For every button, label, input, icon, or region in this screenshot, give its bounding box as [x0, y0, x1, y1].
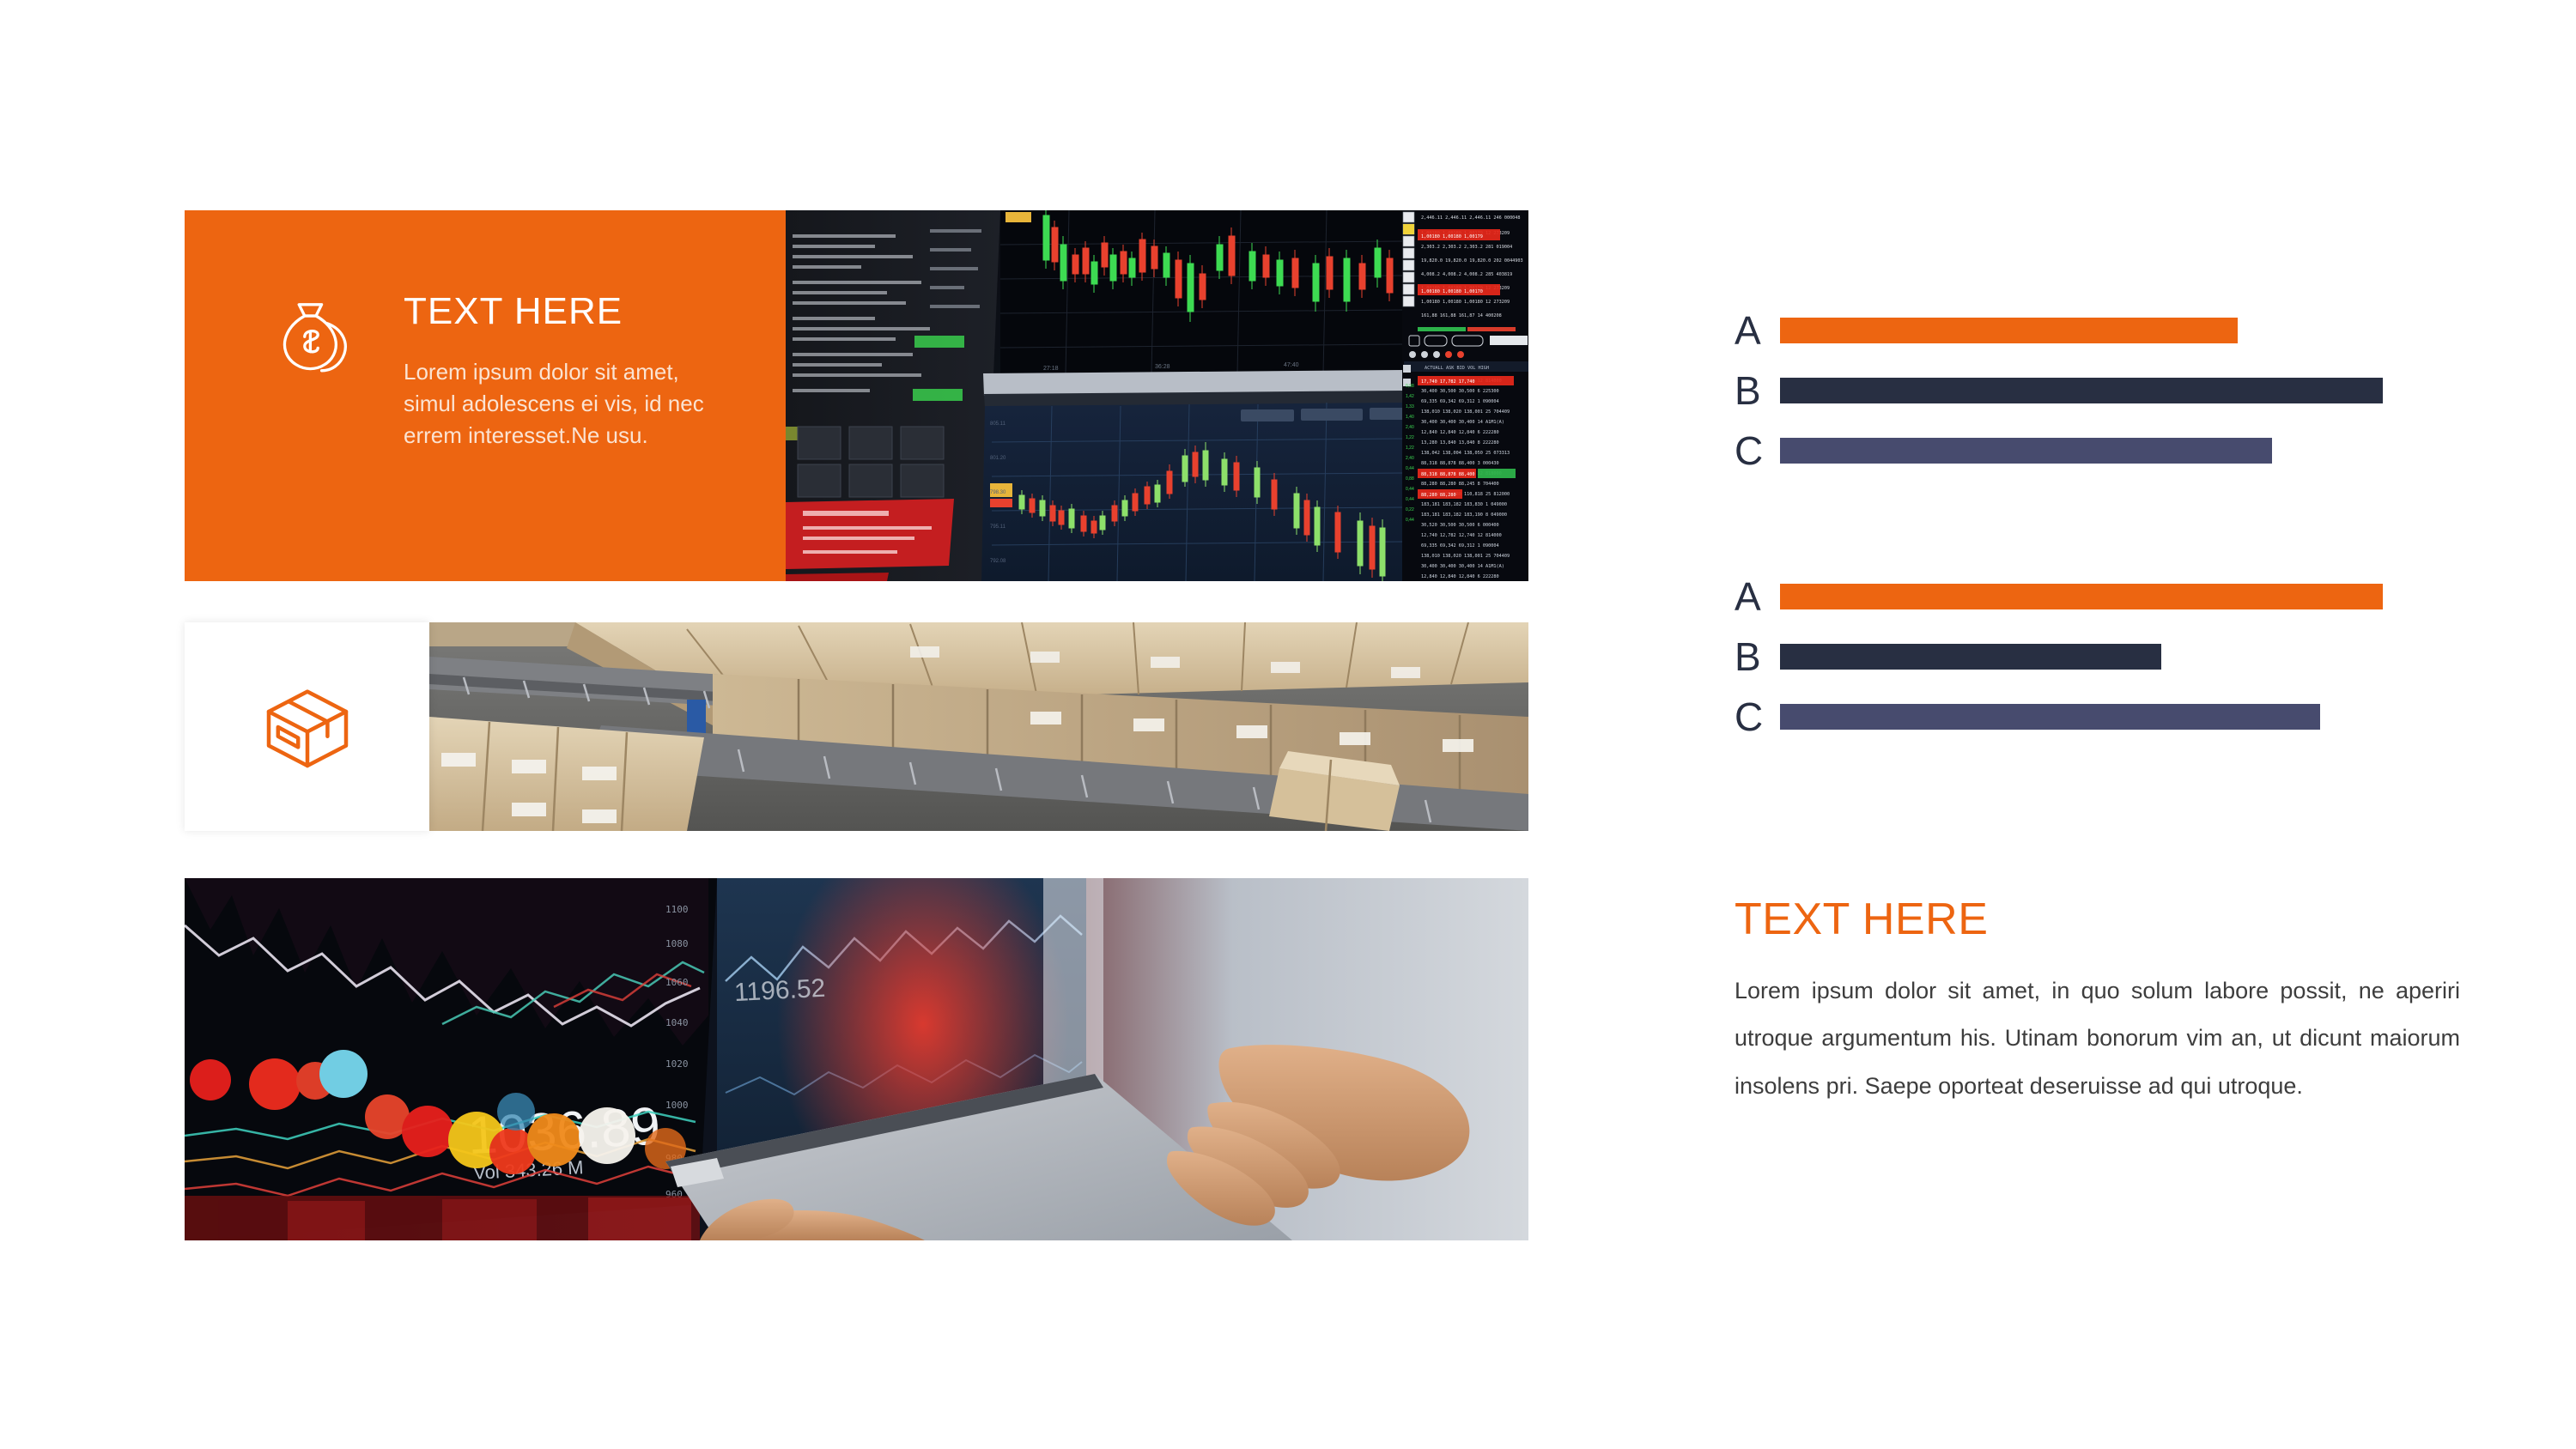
svg-text:1020: 1020 [665, 1058, 689, 1070]
svg-text:30,520 30,500 30,500 6 0: 30,520 30,500 30,500 6 000400 [1421, 523, 1499, 528]
bar-chart-2: A B C [1735, 567, 2473, 747]
svg-text:30,400 30,400 30,400 14 A: 30,400 30,400 30,400 14 A1M1(A) [1421, 420, 1504, 425]
money-bag-icon [269, 288, 363, 382]
svg-text:1080: 1080 [665, 938, 689, 949]
package-row [185, 622, 1528, 831]
bar-label-b: B [1735, 637, 1780, 676]
svg-text:138,010 138,020 138,001 25 7: 138,010 138,020 138,001 25 704409 [1421, 554, 1510, 559]
bar-fill-c [1780, 704, 2320, 730]
feature-card[interactable]: TEXT HERE Lorem ipsum dolor sit amet, si… [185, 210, 786, 581]
svg-text:1040: 1040 [665, 1017, 689, 1028]
svg-text:798.30: 798.30 [990, 490, 1006, 495]
package-card[interactable] [185, 622, 429, 831]
svg-text:2,446.11 2,446.11 2,446.11: 2,446.11 2,446.11 2,446.11 246 000048 [1421, 215, 1521, 221]
svg-text:1000: 1000 [665, 1100, 689, 1111]
svg-text:1196.52: 1196.52 [733, 974, 826, 1008]
svg-text:183,181 183,182 183,190 8: 183,181 183,182 183,190 8 049000 [1421, 512, 1507, 518]
svg-text:69,335 69,342 69,312 1 0: 69,335 69,342 69,312 1 090004 [1421, 399, 1499, 404]
svg-text:12,840 12,840 12,840 6 2: 12,840 12,840 12,840 6 222280 [1421, 574, 1499, 579]
svg-text:0,44: 0,44 [1406, 466, 1414, 471]
text-block-title: TEXT HERE [1735, 897, 2460, 942]
svg-text:801.20: 801.20 [990, 456, 1006, 461]
svg-text:2,303.2 2,303.2 2,303.2: 2,303.2 2,303.2 2,303.2 281 019004 [1421, 245, 1512, 250]
bar-row-b: B [1735, 361, 2473, 421]
trading-screens-image: 27:1836:28 47:40 [786, 210, 1528, 581]
svg-text:1,00180 1,00180 1,00180: 1,00180 1,00180 1,00180 12 273209 [1421, 300, 1510, 305]
bar-track-c [1780, 438, 2473, 464]
svg-text:0,44: 0,44 [1406, 487, 1414, 492]
svg-text:30,400 30,500 30,500 6 2: 30,400 30,500 30,500 6 225300 [1421, 389, 1499, 394]
svg-text:138,010 138,020 138,001 25 7: 138,010 138,020 138,001 25 704409 [1421, 409, 1510, 415]
package-box-icon [261, 681, 354, 773]
svg-text:0,22: 0,22 [1406, 507, 1414, 512]
svg-text:88,280 88,280: 88,280 88,280 [1421, 493, 1456, 498]
bar-label-c: C [1735, 431, 1780, 470]
slide-canvas: TEXT HERE Lorem ipsum dolor sit amet, si… [0, 0, 2576, 1449]
svg-text:1,00180 1,00180 1,00170: 1,00180 1,00180 1,00170 [1421, 289, 1483, 294]
feature-card-body: Lorem ipsum dolor sit amet, simul adoles… [404, 356, 721, 452]
bar-fill-b [1780, 378, 2383, 403]
svg-text:0,44: 0,44 [1406, 497, 1414, 502]
svg-text:88,318 88,878 88,400: 88,318 88,878 88,400 [1421, 472, 1474, 477]
bar-row-a: A [1735, 567, 2473, 627]
svg-text:1,42: 1,42 [1406, 394, 1414, 399]
svg-text:88,280 88,280 88,245 8 7: 88,280 88,280 88,245 8 704400 [1421, 482, 1499, 487]
text-block-body: Lorem ipsum dolor sit amet, in quo solum… [1735, 967, 2460, 1110]
svg-text:69,335 69,342 69,312 1 0: 69,335 69,342 69,312 1 090004 [1421, 543, 1499, 549]
svg-text:1,33: 1,33 [1406, 404, 1414, 409]
svg-text:1,00180 1,00180 1,00179: 1,00180 1,00180 1,00179 [1421, 234, 1483, 239]
bar-track-b [1780, 644, 2473, 670]
bar-fill-c [1780, 438, 2272, 464]
tablet-trading-image: 1036.89 Vol 343.26 M 11001080 10601040 1… [185, 878, 1528, 1240]
bar-track-a [1780, 318, 2473, 343]
svg-text:0,88: 0,88 [1406, 476, 1414, 482]
svg-text:19,820.0 19,820.0 19,820.0: 19,820.0 19,820.0 19,820.0 202 0044903 [1421, 258, 1523, 264]
svg-text:2,40: 2,40 [1406, 425, 1414, 430]
svg-text:36:28: 36:28 [1155, 364, 1170, 370]
svg-text:1,40: 1,40 [1406, 415, 1414, 420]
bar-row-c: C [1735, 687, 2473, 747]
text-block: TEXT HERE Lorem ipsum dolor sit amet, in… [1735, 897, 2460, 1110]
svg-text:1100: 1100 [665, 904, 689, 915]
bar-track-c [1780, 704, 2473, 730]
bar-row-b: B [1735, 627, 2473, 687]
svg-text:30,400 30,400 30,400 14 A: 30,400 30,400 30,400 14 A1M1(A) [1421, 564, 1504, 569]
bar-label-a: A [1735, 577, 1780, 616]
bar-label-b: B [1735, 371, 1780, 410]
svg-text:138,042 138,004 138,050 25 0: 138,042 138,004 138,050 25 073313 [1421, 451, 1510, 456]
svg-text:2,40: 2,40 [1406, 456, 1414, 461]
svg-text:795.11: 795.11 [990, 524, 1006, 530]
feature-row: TEXT HERE Lorem ipsum dolor sit amet, si… [185, 210, 1528, 581]
svg-text:13,280 13,840 13,840 8 2: 13,280 13,840 13,840 8 222280 [1421, 440, 1499, 446]
svg-text:1,22: 1,22 [1406, 435, 1414, 440]
svg-text:792.08: 792.08 [990, 559, 1006, 564]
svg-text:12,740 12,782 12,740 12 8: 12,740 12,782 12,740 12 814000 [1421, 533, 1502, 538]
bar-chart-1: A B C [1735, 300, 2473, 481]
svg-text:47:40: 47:40 [1284, 362, 1299, 368]
bar-fill-a [1780, 584, 2383, 609]
svg-text:161,88 161,88 161,87: 161,88 161,88 161,87 14 400208 [1421, 313, 1502, 318]
warehouse-conveyor-image [429, 622, 1528, 831]
svg-text:27:18: 27:18 [1043, 366, 1059, 372]
right-content-column: A B C A [1735, 210, 2473, 1240]
feature-card-title: TEXT HERE [404, 293, 623, 330]
bar-row-c: C [1735, 421, 2473, 481]
svg-text:183,181 183,182 183,830 1: 183,181 183,182 183,830 1 049000 [1421, 502, 1507, 507]
bar-row-a: A [1735, 300, 2473, 361]
svg-text:4,008.2 4,008.2 4,008.2: 4,008.2 4,008.2 4,008.2 285 403819 [1421, 272, 1512, 277]
bar-fill-a [1780, 318, 2238, 343]
svg-text:17,740 17,782 17,740: 17,740 17,782 17,740 [1421, 379, 1474, 385]
svg-text:ACTUALL ASK BID VOL: ACTUALL ASK BID VOL HIGH [1425, 366, 1489, 371]
bar-track-b [1780, 378, 2473, 403]
bar-fill-b [1780, 644, 2161, 670]
svg-text:0,44: 0,44 [1406, 518, 1414, 523]
svg-text:1,22: 1,22 [1406, 446, 1414, 451]
svg-text:88,318 88,878 88,400 3 0: 88,318 88,878 88,400 3 000430 [1421, 461, 1499, 466]
svg-text:1060: 1060 [665, 977, 689, 988]
svg-text:0,98: 0,98 [1406, 384, 1414, 389]
bar-label-c: C [1735, 697, 1780, 737]
svg-text:805.11: 805.11 [990, 421, 1006, 427]
left-content-column: TEXT HERE Lorem ipsum dolor sit amet, si… [185, 210, 1528, 1240]
bar-label-a: A [1735, 311, 1780, 350]
bar-track-a [1780, 584, 2473, 609]
svg-text:12,840 12,840 12,840 6 2: 12,840 12,840 12,840 6 222280 [1421, 430, 1499, 435]
